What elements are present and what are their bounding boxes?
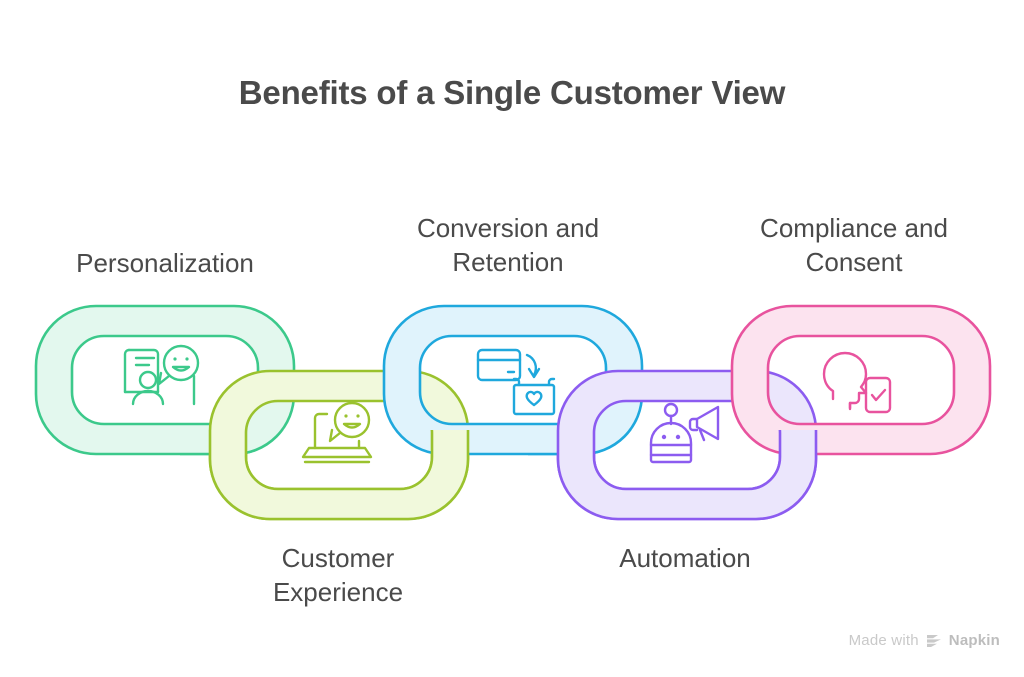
diagram-canvas: Benefits of a Single Customer View	[0, 0, 1024, 677]
credit-card-arrow-shopping-bag-heart-icon	[478, 350, 554, 414]
robot-megaphone-icon	[651, 404, 718, 462]
link-label-compliance-consent: Compliance and Consent	[714, 211, 994, 279]
link-label-customer-experience: Customer Experience	[198, 541, 478, 609]
napkin-watermark: Made with Napkin	[849, 632, 1000, 649]
link-label-personalization: Personalization	[25, 246, 305, 280]
napkin-chevron-logo	[925, 633, 943, 649]
link-label-automation: Automation	[545, 541, 825, 575]
link-label-conversion-retention: Conversion and Retention	[368, 211, 648, 279]
head-profile-phone-checkmark-icon	[824, 353, 890, 412]
laptop-speech-bubble-smiley-icon	[303, 403, 371, 462]
watermark-prefix: Made with	[849, 632, 919, 649]
watermark-brand: Napkin	[949, 632, 1000, 649]
chain-diagram	[0, 0, 1024, 677]
person-card-speech-bubble-smiley-icon	[125, 346, 198, 404]
